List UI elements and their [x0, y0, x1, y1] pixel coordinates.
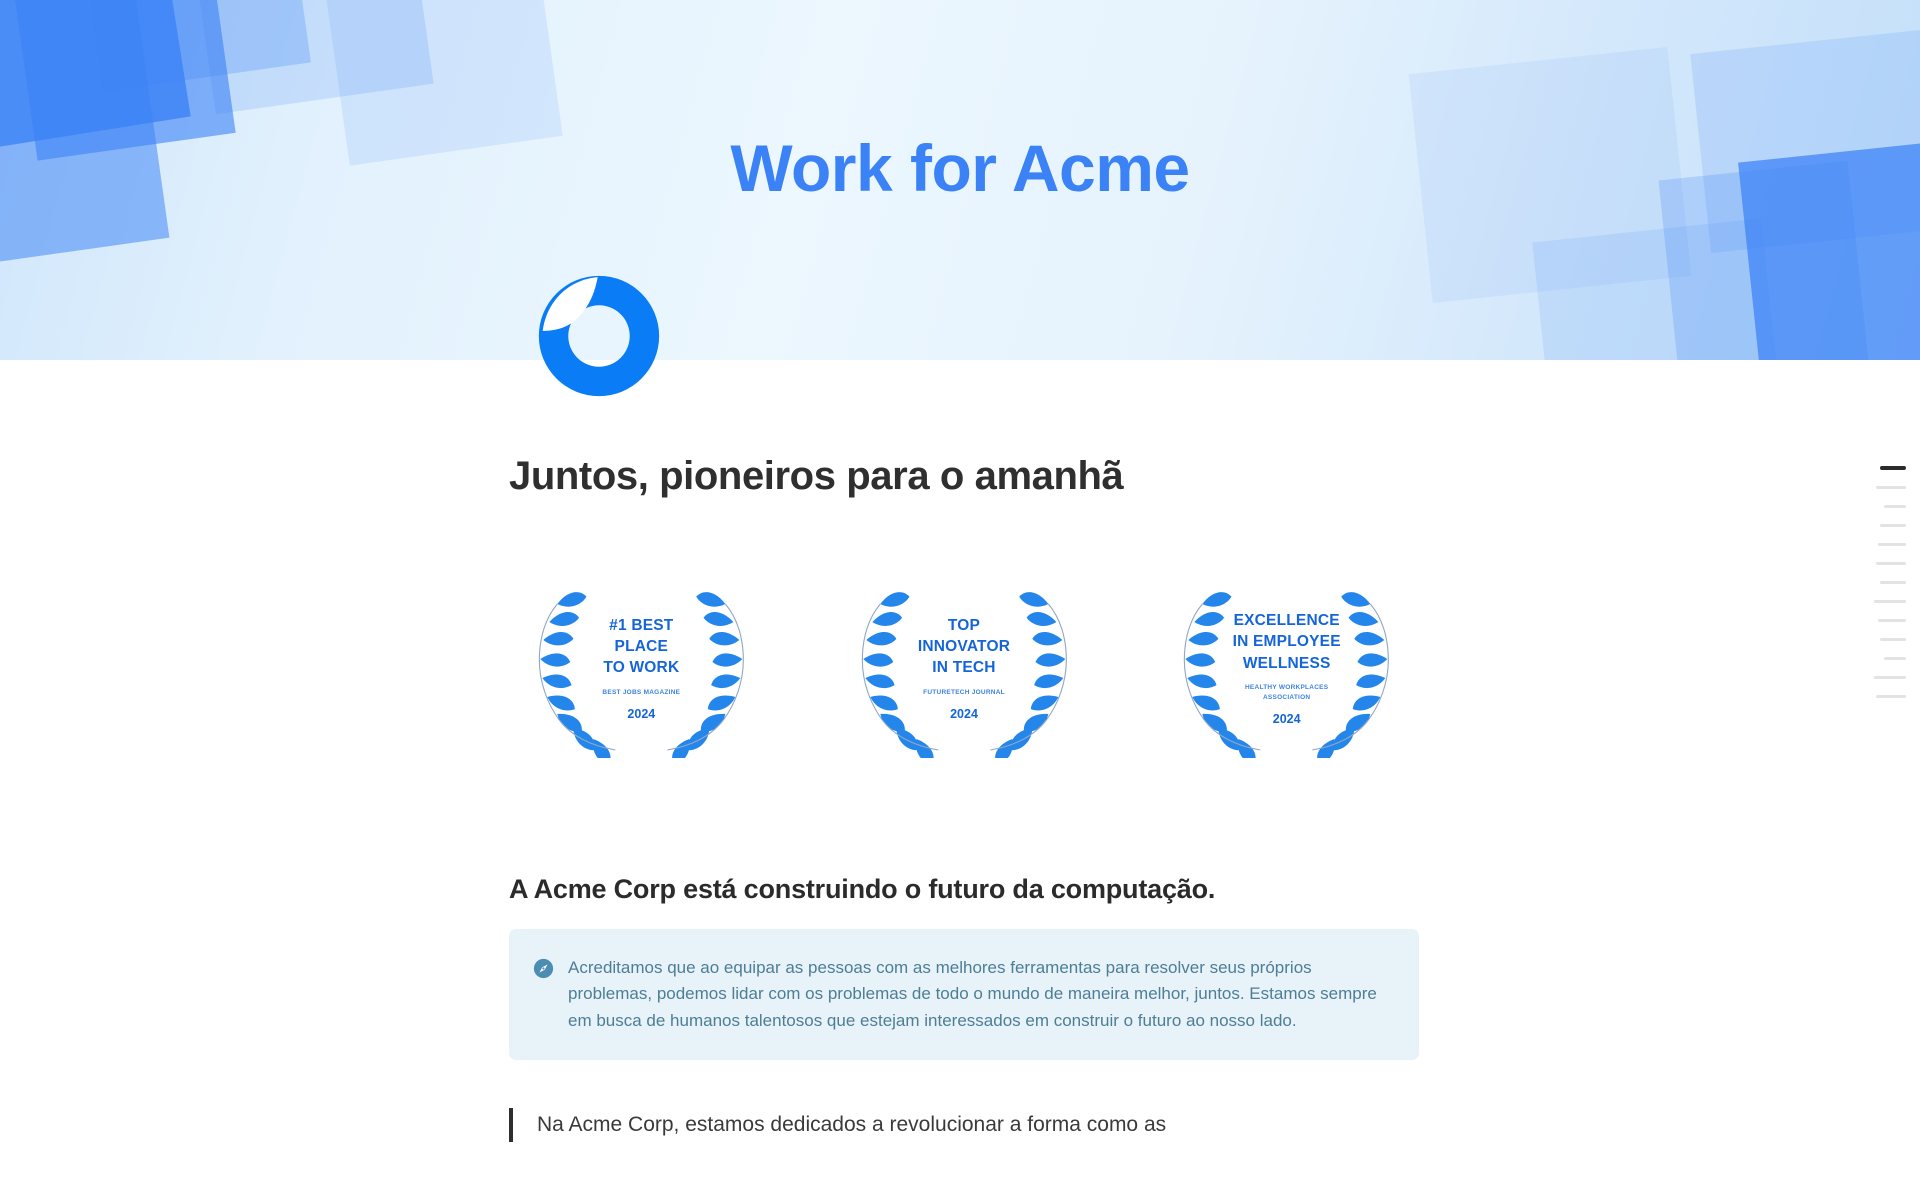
toc-rail-item[interactable]: [1878, 543, 1906, 546]
toc-rail-item[interactable]: [1884, 657, 1906, 660]
award-badge-text: TOPINNOVATORIN TECH FUTURETECH JOURNAL 2…: [889, 615, 1039, 722]
toc-rail-item[interactable]: [1874, 600, 1906, 603]
toc-rail-item[interactable]: [1880, 581, 1906, 584]
award-badge-text: EXCELLENCEIN EMPLOYEEWELLNESS HEALTHY WO…: [1212, 610, 1362, 726]
acme-logo: [530, 272, 668, 400]
award-badges: #1 BESTPLACETO WORK BEST JOBS MAGAZINE 2…: [509, 578, 1419, 758]
toc-rail-item[interactable]: [1880, 638, 1906, 641]
award-badge-title: EXCELLENCEIN EMPLOYEEWELLNESS: [1212, 610, 1362, 674]
award-badge-year: 2024: [889, 707, 1039, 721]
main-content: Juntos, pioneiros para o amanhã: [509, 360, 1419, 1142]
toc-rail-item[interactable]: [1880, 466, 1906, 470]
toc-rail-item[interactable]: [1884, 505, 1906, 508]
award-badge-text: #1 BESTPLACETO WORK BEST JOBS MAGAZINE 2…: [566, 615, 716, 722]
award-badge-title: TOPINNOVATORIN TECH: [889, 615, 1039, 679]
hero-banner: Work for Acme: [0, 0, 1920, 360]
toc-rail-item[interactable]: [1876, 562, 1906, 565]
toc-rail-item[interactable]: [1880, 524, 1906, 527]
table-of-contents-rail[interactable]: [1854, 466, 1906, 698]
award-badge-title: #1 BESTPLACETO WORK: [566, 615, 716, 679]
toc-rail-item[interactable]: [1876, 695, 1906, 698]
award-badge-org: FUTURETECH JOURNAL: [889, 688, 1039, 697]
callout-text: Acreditamos que ao equipar as pessoas co…: [568, 955, 1391, 1034]
compass-icon: [533, 958, 554, 979]
award-badge-org: BEST JOBS MAGAZINE: [566, 688, 716, 697]
award-badge: TOPINNOVATORIN TECH FUTURETECH JOURNAL 2…: [832, 578, 1097, 758]
hero-title: Work for Acme: [0, 132, 1920, 205]
toc-rail-item[interactable]: [1874, 676, 1906, 679]
toc-rail-item[interactable]: [1878, 619, 1906, 622]
award-badge: EXCELLENCEIN EMPLOYEEWELLNESS HEALTHY WO…: [1154, 578, 1419, 758]
page-root: Work for Acme Juntos, pioneiros para o a…: [0, 0, 1920, 1199]
info-callout: Acreditamos que ao equipar as pessoas co…: [509, 929, 1419, 1060]
award-badge-year: 2024: [1212, 712, 1362, 726]
award-badge-year: 2024: [566, 707, 716, 721]
award-badge-org: HEALTHY WORKPLACESASSOCIATION: [1212, 683, 1362, 702]
award-badge: #1 BESTPLACETO WORK BEST JOBS MAGAZINE 2…: [509, 578, 774, 758]
page-headline: Juntos, pioneiros para o amanhã: [509, 452, 1419, 500]
pull-quote: Na Acme Corp, estamos dedicados a revolu…: [509, 1108, 1339, 1142]
toc-rail-item[interactable]: [1876, 486, 1906, 489]
section-title: A Acme Corp está construindo o futuro da…: [509, 874, 1419, 905]
